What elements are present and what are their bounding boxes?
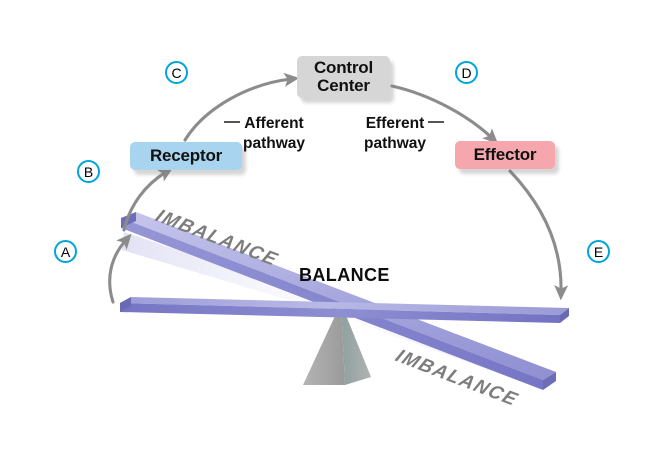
node-effector-label: Effector (474, 146, 537, 164)
node-effector[interactable]: Effector (455, 141, 555, 169)
label-balance: BALANCE (299, 265, 390, 286)
node-control-center-label-line1: Control (314, 59, 373, 77)
label-efferent-line2: pathway (364, 134, 426, 154)
label-efferent-line1: Efferent (364, 114, 426, 134)
marker-a[interactable]: A (54, 240, 77, 263)
node-control-center-label-line2: Center (314, 77, 373, 95)
node-receptor[interactable]: Receptor (130, 142, 242, 170)
homeostasis-diagram-canvas: Receptor Control Center Effector Afferen… (0, 0, 667, 456)
label-efferent-pathway: Efferent pathway (364, 114, 426, 154)
marker-d-letter: D (461, 65, 471, 81)
marker-c[interactable]: C (165, 61, 188, 84)
arrow-to-balance-beam (510, 171, 561, 292)
marker-c-letter: C (171, 65, 181, 81)
label-afferent-line1: Afferent (243, 114, 305, 134)
label-afferent-line2: pathway (243, 134, 305, 154)
marker-d[interactable]: D (455, 61, 478, 84)
marker-b-letter: B (84, 164, 93, 180)
marker-e-letter: E (594, 244, 603, 260)
marker-b[interactable]: B (77, 160, 100, 183)
label-afferent-pathway: Afferent pathway (243, 114, 305, 154)
marker-e[interactable]: E (587, 240, 610, 263)
marker-a-letter: A (61, 244, 70, 260)
node-control-center-label: Control Center (314, 59, 373, 95)
node-receptor-label: Receptor (150, 147, 222, 165)
node-control-center[interactable]: Control Center (297, 56, 390, 98)
